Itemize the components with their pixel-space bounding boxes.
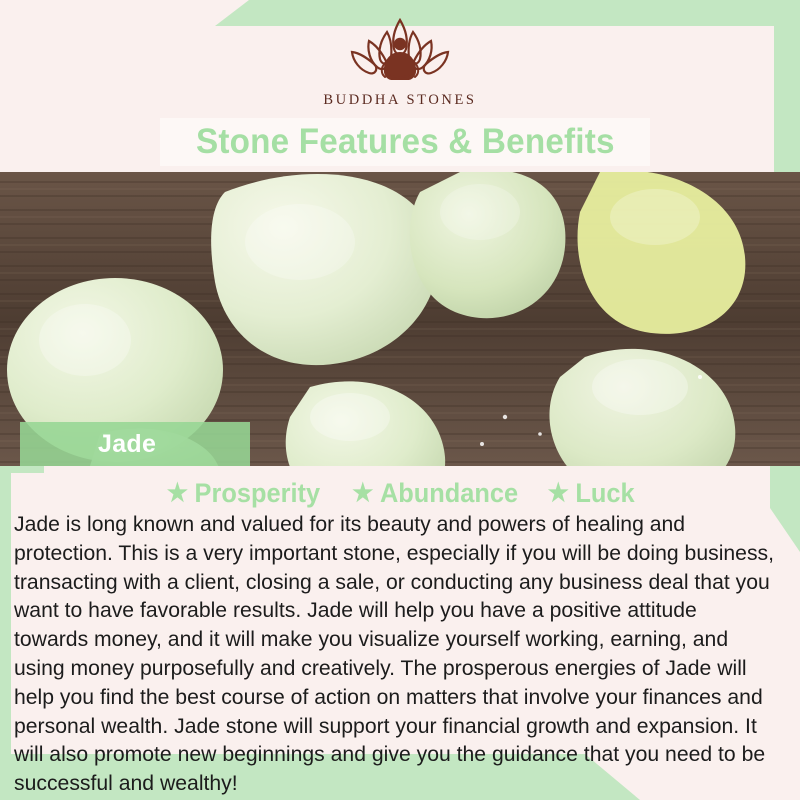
benefit-label: Prosperity <box>195 478 321 509</box>
brand-name: BUDDHA STONES <box>323 92 476 109</box>
page-root: BUDDHA STONES Stone Features & Benefits <box>0 0 800 800</box>
benefit-label: Abundance <box>380 478 518 509</box>
benefit-item-prosperity: ★ Prosperity <box>167 478 320 509</box>
stone-label-bar: Jade <box>20 422 250 466</box>
benefit-label: Luck <box>576 478 635 509</box>
page-title: Stone Features & Benefits <box>196 122 615 162</box>
brand-logo: BUDDHA STONES <box>0 16 800 109</box>
star-icon: ★ <box>167 481 188 506</box>
lotus-meditation-icon <box>325 16 475 88</box>
stone-photo: Jade <box>0 172 800 466</box>
benefit-item-abundance: ★ Abundance <box>352 478 518 509</box>
page-title-banner: Stone Features & Benefits <box>160 118 650 166</box>
stone-description: Jade is long known and valued for its be… <box>14 510 776 798</box>
benefits-row: ★ Prosperity ★ Abundance ★ Luck <box>0 478 800 509</box>
star-icon: ★ <box>548 481 569 506</box>
benefit-item-luck: ★ Luck <box>548 478 635 509</box>
stone-label: Jade <box>98 430 156 459</box>
header: BUDDHA STONES Stone Features & Benefits <box>0 0 800 172</box>
decorative-shape-left-text-edge <box>0 466 11 758</box>
star-icon: ★ <box>352 481 373 506</box>
